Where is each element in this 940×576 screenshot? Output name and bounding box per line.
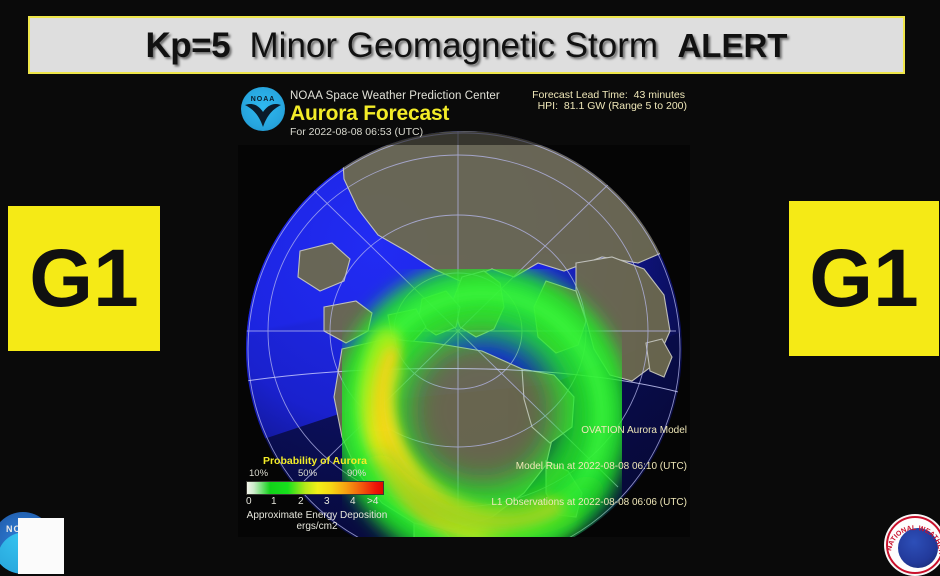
nws-corner-logo-icon: NATIONAL WEATHER (884, 514, 940, 576)
legend-footer-line-2: ergs/cm2 (243, 521, 391, 532)
legend-energy-tick-3: 3 (324, 496, 330, 507)
legend-prob-tick-90: 90% (347, 468, 366, 479)
valid-time-label: For 2022-08-08 06:53 (UTC) (290, 126, 423, 138)
legend-prob-tick-10: 10% (249, 468, 268, 479)
nws-logo-arc-text: NATIONAL WEATHER (887, 520, 940, 572)
l1-observations-label: L1 Observations at 2022-08-08 06:06 (UTC… (491, 497, 687, 509)
agency-name-label: NOAA Space Weather Prediction Center (290, 90, 500, 102)
legend-energy-tick-0: 0 (246, 496, 252, 507)
aurora-forecast-map-panel: NOAA NOAA Space Weather Prediction Cente… (238, 85, 690, 537)
map-header-bar: NOAA NOAA Space Weather Prediction Cente… (238, 85, 690, 145)
legend-colorbar (246, 481, 384, 495)
geomagnetic-storm-alert-banner: Kp=5 Minor Geomagnetic Storm ALERT (28, 16, 905, 74)
model-name-label: OVATION Aurora Model (491, 425, 687, 437)
legend-energy-tick-2: 2 (298, 496, 304, 507)
storm-description-label: Minor Geomagnetic Storm (250, 28, 658, 63)
banner-gap-1 (230, 28, 249, 63)
noaa-seagull-glyph (243, 101, 283, 131)
probability-legend: Probability of Aurora 10% 50% 90% 0 1 2 … (243, 455, 391, 532)
legend-energy-tick-1: 1 (271, 496, 277, 507)
storm-scale-badge-right: G1 (789, 201, 939, 356)
legend-title: Probability of Aurora (243, 455, 387, 467)
noaa-corner-logo-card (18, 518, 64, 574)
noaa-logo-icon: NOAA (241, 87, 285, 131)
hpi-label: HPI: 81.1 GW (Range 5 to 200) (538, 100, 687, 112)
model-run-label: Model Run at 2022-08-08 06:10 (UTC) (491, 461, 687, 473)
map-title: Aurora Forecast (290, 102, 449, 126)
storm-scale-badge-left: G1 (8, 206, 160, 351)
alert-word-label: ALERT (677, 29, 787, 62)
legend-probability-ticks: 10% 50% 90% (243, 468, 387, 481)
legend-energy-tick-4: 4 (350, 496, 356, 507)
legend-energy-ticks: 0 1 2 3 4 >4 (243, 496, 387, 509)
legend-footer: Approximate Energy Deposition ergs/cm2 (243, 510, 391, 532)
legend-prob-tick-50: 50% (298, 468, 317, 479)
legend-energy-tick-gt4: >4 (367, 496, 378, 507)
banner-gap-2 (658, 28, 677, 63)
kp-index-label: Kp=5 (146, 28, 231, 63)
model-attribution-footer: OVATION Aurora Model Model Run at 2022-0… (491, 401, 687, 533)
legend-footer-line-1: Approximate Energy Deposition (243, 510, 391, 521)
svg-text:NATIONAL WEATHER: NATIONAL WEATHER (887, 525, 940, 555)
